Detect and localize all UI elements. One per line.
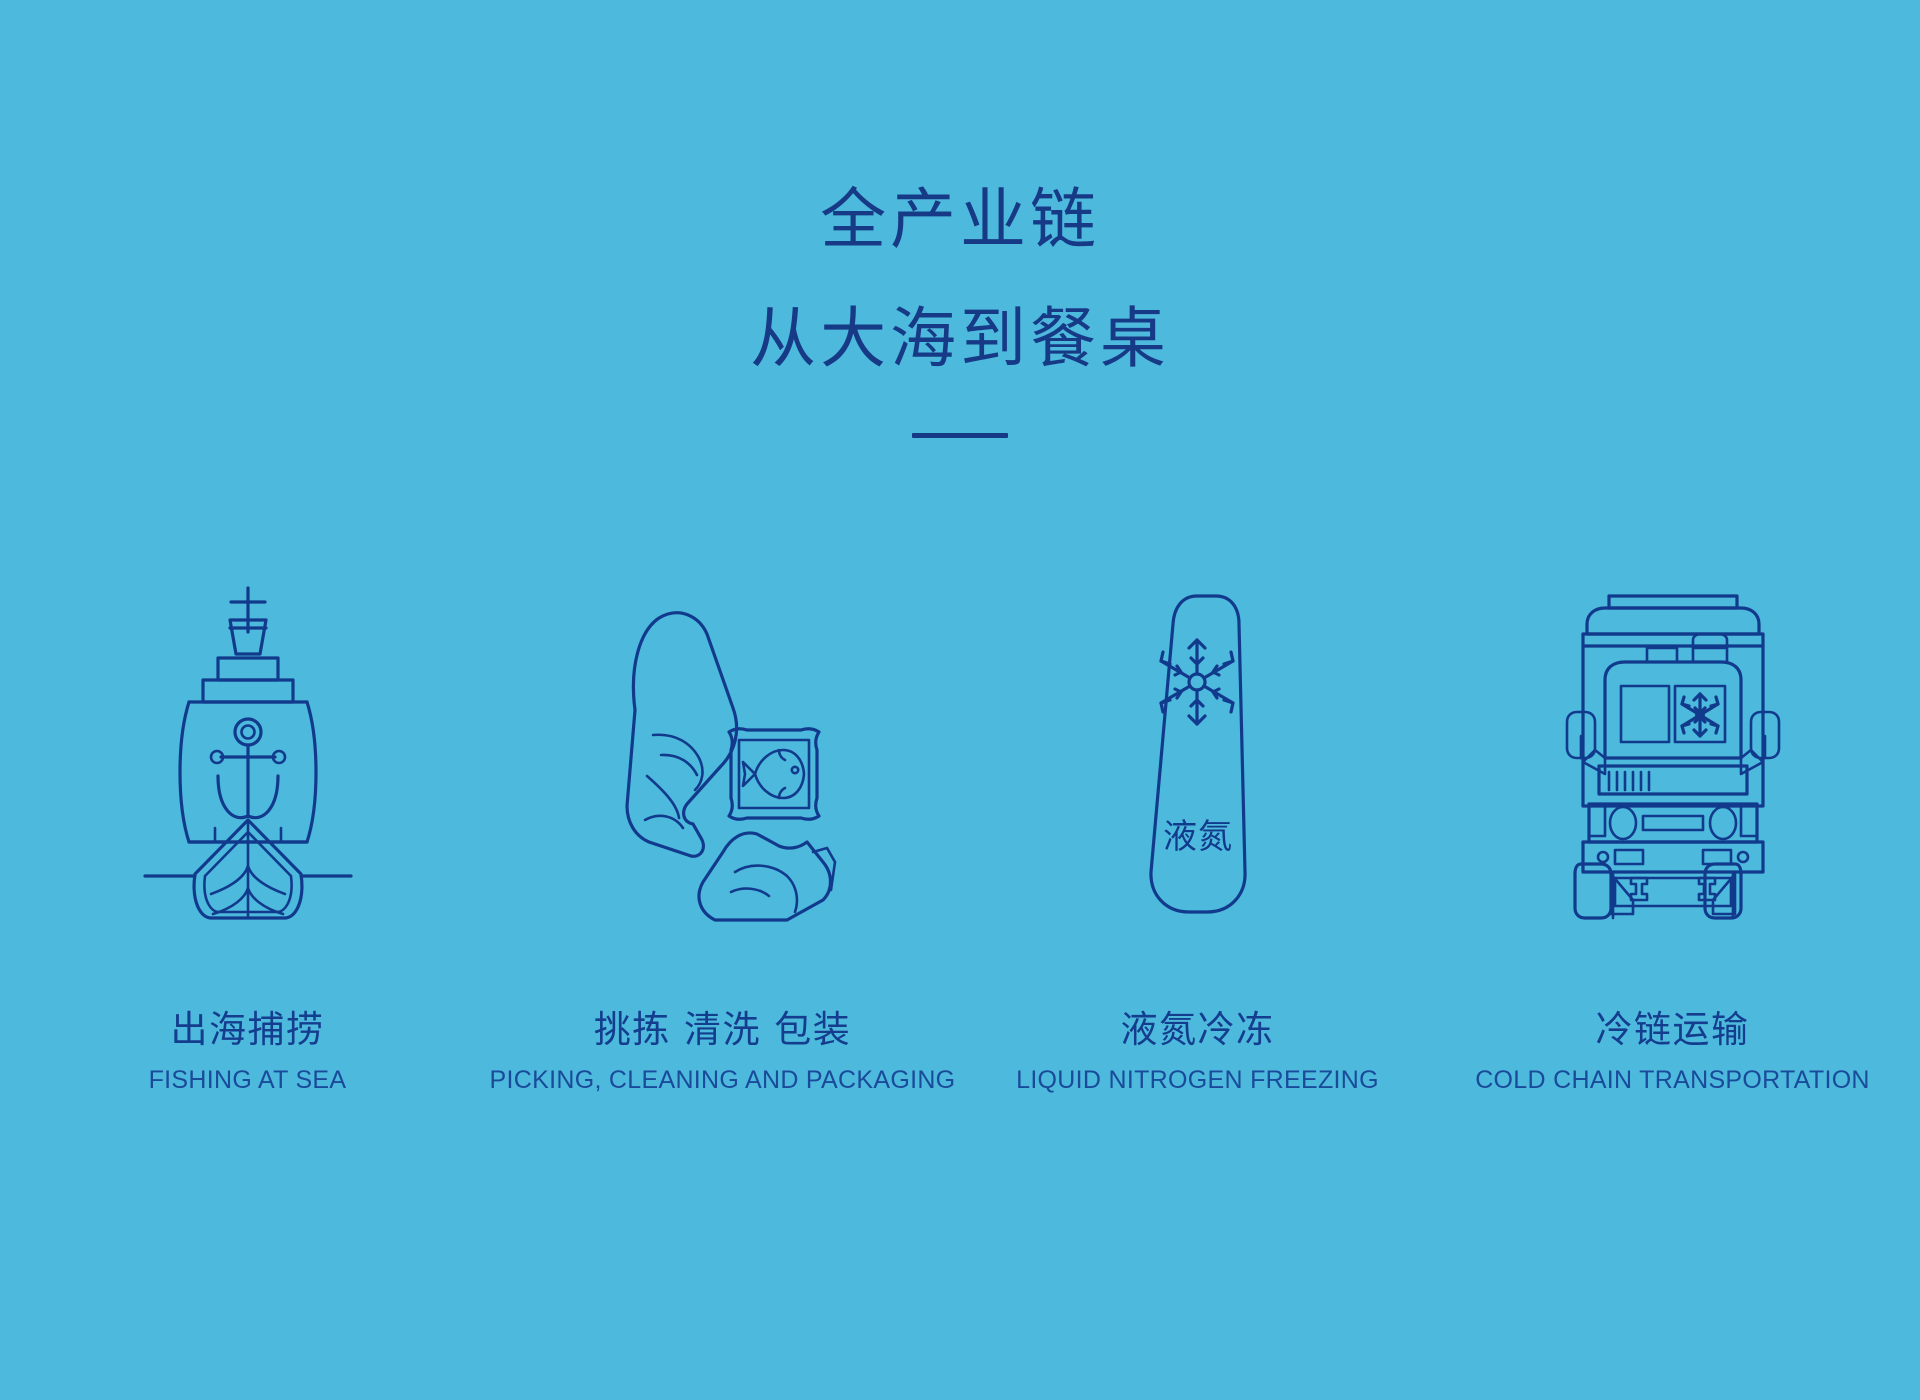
icon-box-2 (583, 520, 863, 920)
tank-label-text: 液氮 (1163, 817, 1233, 857)
page-title-line-2: 从大海到餐桌 (0, 305, 1920, 372)
step-fishing-at-sea (10, 520, 485, 920)
page-title-line-1: 全产业链 (0, 186, 1920, 253)
icon-box-1 (133, 520, 363, 920)
liquid-nitrogen-tank-icon: 液氮 (1133, 590, 1263, 920)
step-liquid-nitrogen-freezing: 液氮 (960, 520, 1435, 920)
label-cn-1: 出海捕捞 (10, 1010, 485, 1051)
label-cold-chain-transportation: 冷链运输 COLD CHAIN TRANSPORTATION (1435, 1010, 1910, 1095)
icon-box-4 (1543, 520, 1803, 920)
label-en-2: PICKING, CLEANING AND PACKAGING (485, 1066, 960, 1095)
label-en-4: COLD CHAIN TRANSPORTATION (1435, 1066, 1910, 1095)
icon-box-3: 液氮 (1133, 520, 1263, 920)
title-divider-wrap (0, 433, 1920, 438)
label-cn-2: 挑拣 清洗 包装 (485, 1010, 960, 1051)
label-cn-4: 冷链运输 (1435, 1010, 1910, 1051)
label-en-3: LIQUID NITROGEN FREEZING (960, 1066, 1435, 1095)
refrigerated-truck-icon (1543, 590, 1803, 920)
title-divider (912, 433, 1008, 438)
snowflake-icon (1682, 694, 1718, 736)
process-step-icons: 液氮 (0, 520, 1920, 920)
label-liquid-nitrogen-freezing: 液氮冷冻 LIQUID NITROGEN FREEZING (960, 1010, 1435, 1095)
fishing-boat-icon (133, 580, 363, 920)
label-picking-cleaning-packaging: 挑拣 清洗 包装 PICKING, CLEANING AND PACKAGING (485, 1010, 960, 1095)
hands-fish-package-icon (583, 590, 863, 920)
label-cn-3: 液氮冷冻 (960, 1010, 1435, 1051)
label-fishing-at-sea: 出海捕捞 FISHING AT SEA (10, 1010, 485, 1095)
label-en-1: FISHING AT SEA (10, 1066, 485, 1095)
header: 全产业链 从大海到餐桌 (0, 0, 1920, 438)
infographic-page: 全产业链 从大海到餐桌 (0, 0, 1920, 1400)
process-step-labels: 出海捕捞 FISHING AT SEA 挑拣 清洗 包装 PICKING, CL… (0, 1010, 1920, 1095)
step-picking-cleaning-packaging (485, 520, 960, 920)
step-cold-chain-transportation (1435, 520, 1910, 920)
